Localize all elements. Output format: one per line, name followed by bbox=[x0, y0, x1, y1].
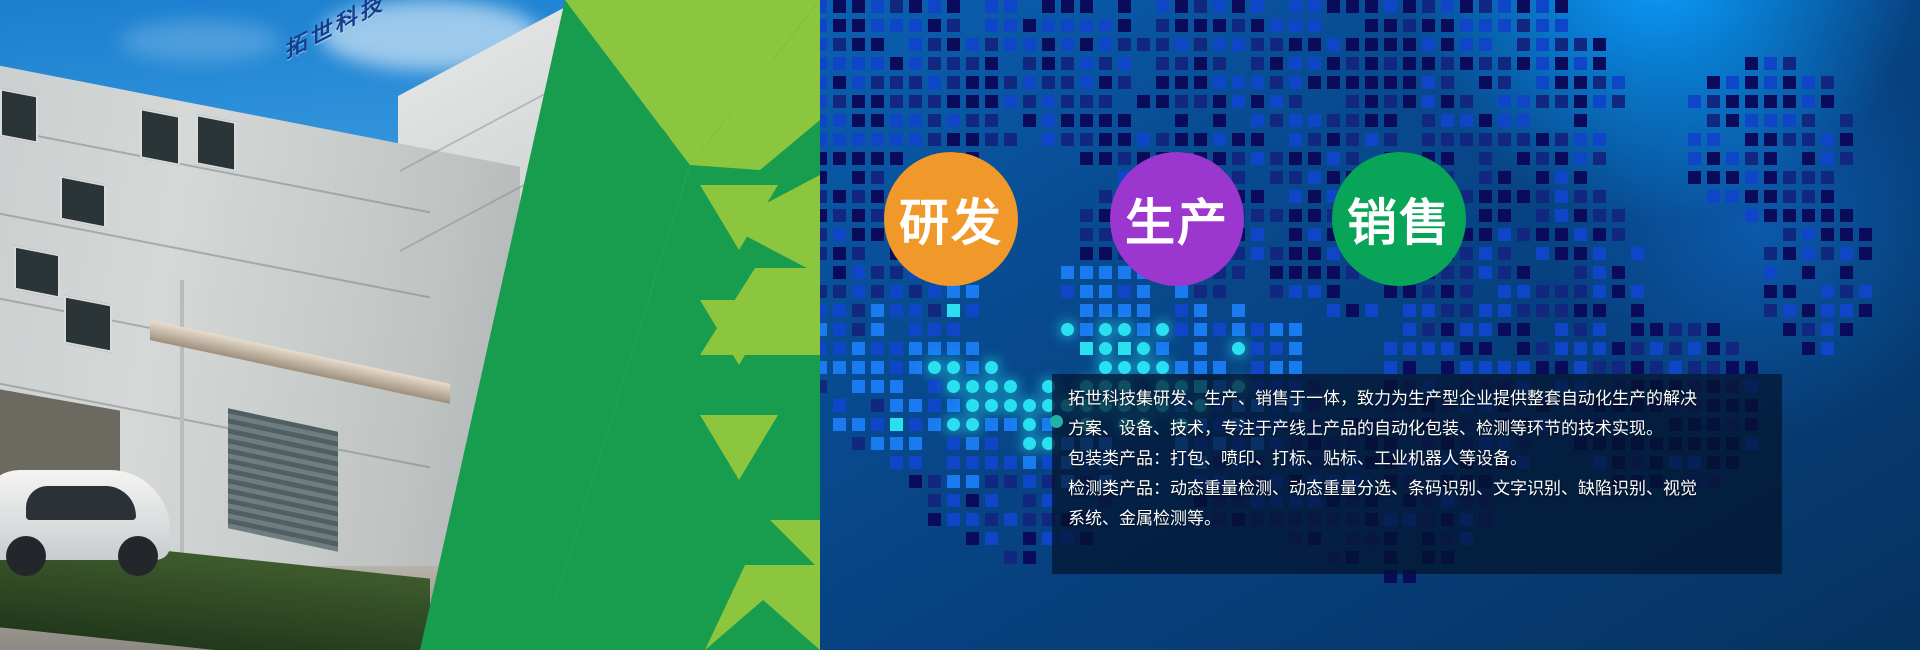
description-text: 拓世科技集研发、生产、销售于一体，致力为生产型企业提供整套自动化生产的解决 方案… bbox=[1068, 384, 1776, 534]
badge-label: 生产 bbox=[1125, 183, 1229, 255]
description-line: 系统、金属检测等。 bbox=[1068, 504, 1776, 534]
bullet-dot bbox=[1050, 415, 1063, 428]
description-line: 方案、设备、技术，专注于产线上产品的自动化包装、检测等环节的技术实现。 bbox=[1068, 414, 1776, 444]
description-line: 拓世科技集研发、生产、销售于一体，致力为生产型企业提供整套自动化生产的解决 bbox=[1068, 384, 1776, 414]
description-line: 检测类产品：动态重量检测、动态重量分选、条码识别、文字识别、缺陷识别、视觉 bbox=[1068, 474, 1776, 504]
description-line: 包装类产品：打包、喷印、打标、贴标、工业机器人等设备。 bbox=[1068, 444, 1776, 474]
badge-research-development[interactable]: 研发 bbox=[884, 152, 1018, 286]
badge-sales[interactable]: 销售 bbox=[1332, 152, 1466, 286]
badge-label: 研发 bbox=[899, 183, 1003, 255]
company-profile-banner: 拓世科技 研发 生产 bbox=[0, 0, 1920, 650]
badge-label: 销售 bbox=[1347, 183, 1451, 255]
badge-production[interactable]: 生产 bbox=[1110, 152, 1244, 286]
